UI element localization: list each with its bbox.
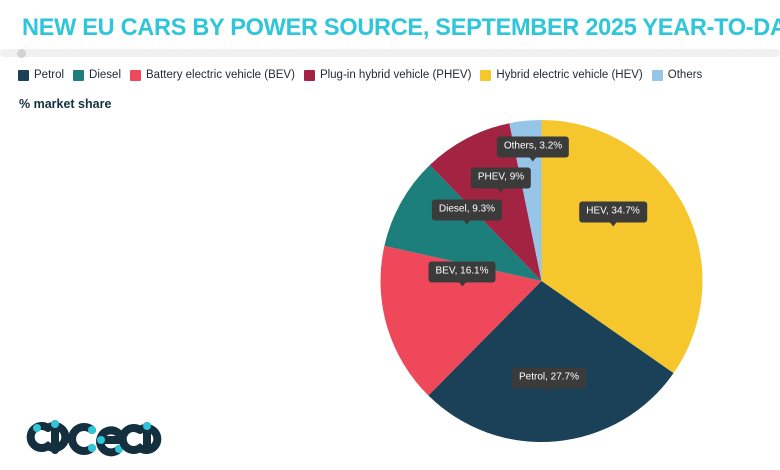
legend-item-label: Diesel bbox=[89, 70, 121, 82]
legend-swatch-icon bbox=[130, 70, 141, 81]
legend-item-plug-in-hybrid-vehicle-phev[interactable]: Plug-in hybrid vehicle (PHEV) bbox=[304, 70, 471, 82]
pie-slice-petrol[interactable] bbox=[428, 281, 673, 442]
pie-label-diesel: Diesel, 9.3% bbox=[432, 200, 502, 221]
horizontal-scrollbar-handle[interactable] bbox=[17, 49, 26, 58]
legend-item-diesel[interactable]: Diesel bbox=[73, 70, 121, 82]
horizontal-scrollbar-track[interactable] bbox=[0, 49, 780, 57]
legend-item-battery-electric-vehicle-bev[interactable]: Battery electric vehicle (BEV) bbox=[130, 70, 295, 82]
page-title: NEW EU CARS BY POWER SOURCE, SEPTEMBER 2… bbox=[22, 14, 780, 42]
acea-logo: acea bbox=[22, 404, 162, 462]
legend-swatch-icon bbox=[304, 70, 315, 81]
legend-swatch-icon bbox=[652, 70, 663, 81]
logo-dot-a2 bbox=[143, 422, 151, 430]
pie-label-bev: BEV, 16.1% bbox=[428, 262, 495, 283]
legend-item-hybrid-electric-vehicle-hev[interactable]: Hybrid electric vehicle (HEV) bbox=[480, 70, 642, 82]
legend-item-label: Battery electric vehicle (BEV) bbox=[146, 70, 295, 82]
chart-page: NEW EU CARS BY POWER SOURCE, SEPTEMBER 2… bbox=[0, 0, 780, 470]
legend-item-others[interactable]: Others bbox=[652, 70, 703, 82]
legend-item-petrol[interactable]: Petrol bbox=[18, 70, 64, 82]
pie-label-others: Others, 3.2% bbox=[497, 137, 569, 158]
axis-unit-label: % market share bbox=[19, 97, 111, 111]
legend-item-label: Others bbox=[668, 70, 703, 82]
pie-label-phev: PHEV, 9% bbox=[471, 168, 531, 189]
legend-swatch-icon bbox=[480, 70, 491, 81]
legend-item-label: Petrol bbox=[34, 70, 64, 82]
pie-label-petrol: Petrol, 27.7% bbox=[512, 368, 586, 389]
legend-item-label: Plug-in hybrid vehicle (PHEV) bbox=[320, 70, 471, 82]
pie-label-hev: HEV, 34.7% bbox=[579, 202, 647, 223]
pie-slice-hev[interactable] bbox=[542, 120, 703, 373]
acea-logo-mark: acea bbox=[22, 404, 162, 462]
legend-item-label: Hybrid electric vehicle (HEV) bbox=[496, 70, 642, 82]
legend-swatch-icon bbox=[18, 70, 29, 81]
chart-legend: PetrolDieselBattery electric vehicle (BE… bbox=[18, 70, 702, 82]
legend-swatch-icon bbox=[73, 70, 84, 81]
